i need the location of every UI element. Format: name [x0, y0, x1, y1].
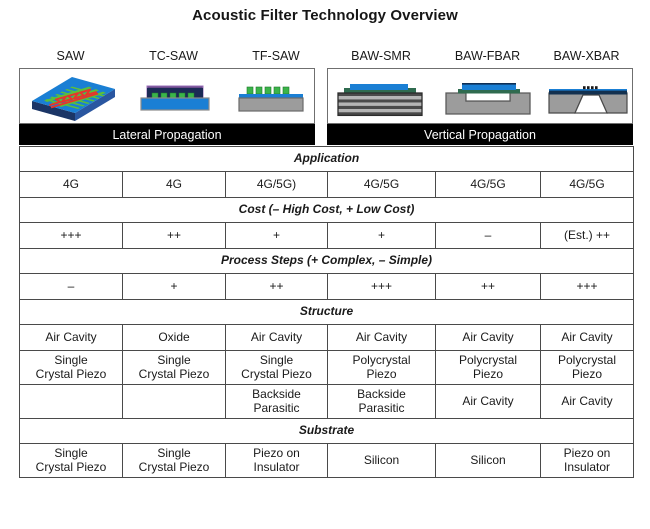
- cell-process-tf-saw: ++: [226, 274, 328, 300]
- cell-structure1-baw-xbar: Air Cavity: [541, 325, 634, 351]
- column-header-row: SAW TC-SAW TF-SAW BAW-SMR BAW-FBAR BAW-X…: [19, 48, 633, 66]
- section-header-row-substrate: Substrate: [20, 419, 634, 444]
- cell-application-saw: 4G: [20, 172, 123, 198]
- column-header-baw-fbar: BAW-FBAR: [435, 48, 540, 66]
- cell-structure2-tf-saw: SingleCrystal Piezo: [226, 351, 328, 385]
- section-heading-structure: Structure: [20, 300, 634, 325]
- cell-structure1-baw-fbar: Air Cavity: [436, 325, 541, 351]
- table-row: 4G 4G 4G/5G) 4G/5G 4G/5G 4G/5G: [20, 172, 634, 198]
- cell-structure1-baw-smr: Air Cavity: [328, 325, 436, 351]
- cell-process-tc-saw: +: [123, 274, 226, 300]
- cell-substrate-tf-saw: Piezo onInsulator: [226, 444, 328, 478]
- cell-cost-saw: +++: [20, 223, 123, 249]
- figure-cell-tf-saw: [226, 69, 315, 123]
- comparison-table: Application 4G 4G 4G/5G) 4G/5G 4G/5G 4G/…: [19, 146, 634, 478]
- table-row: BacksideParasitic BacksideParasitic Air …: [20, 385, 634, 419]
- cell-substrate-tc-saw: SingleCrystal Piezo: [123, 444, 226, 478]
- cell-structure1-tf-saw: Air Cavity: [226, 325, 328, 351]
- table-row: +++ ++ + + – (Est.) ++: [20, 223, 634, 249]
- cell-substrate-saw: SingleCrystal Piezo: [20, 444, 123, 478]
- cell-structure2-tc-saw: SingleCrystal Piezo: [123, 351, 226, 385]
- cell-application-tf-saw: 4G/5G): [226, 172, 328, 198]
- cell-application-baw-smr: 4G/5G: [328, 172, 436, 198]
- cell-application-tc-saw: 4G: [123, 172, 226, 198]
- cell-process-baw-smr: +++: [328, 274, 436, 300]
- tc-saw-cross-section-icon: [123, 69, 226, 124]
- cell-process-baw-fbar: ++: [436, 274, 541, 300]
- cell-structure3-tf-saw: BacksideParasitic: [226, 385, 328, 419]
- column-header-saw: SAW: [19, 48, 122, 66]
- section-heading-substrate: Substrate: [20, 419, 634, 444]
- page-title: Acoustic Filter Technology Overview: [0, 7, 650, 24]
- section-heading-cost: Cost (– High Cost, + Low Cost): [20, 198, 634, 223]
- cell-process-saw: –: [20, 274, 123, 300]
- baw-xbar-cross-section-icon: [541, 69, 633, 124]
- baw-fbar-cross-section-icon: [436, 69, 541, 124]
- cell-cost-baw-smr: +: [328, 223, 436, 249]
- column-header-tf-saw: TF-SAW: [225, 48, 327, 66]
- section-header-row-cost: Cost (– High Cost, + Low Cost): [20, 198, 634, 223]
- lateral-propagation-bar: Lateral Propagation: [19, 124, 315, 145]
- column-header-baw-smr: BAW-SMR: [327, 48, 435, 66]
- figure-cell-baw-xbar: [541, 69, 633, 123]
- table-row: Air Cavity Oxide Air Cavity Air Cavity A…: [20, 325, 634, 351]
- poster-root: Acoustic Filter Technology Overview SAW …: [0, 0, 650, 529]
- tf-saw-cross-section-icon: [226, 69, 315, 124]
- cell-structure2-baw-xbar: PolycrystalPiezo: [541, 351, 634, 385]
- vertical-propagation-figure-panel: [327, 68, 633, 124]
- cell-substrate-baw-smr: Silicon: [328, 444, 436, 478]
- section-heading-application: Application: [20, 147, 634, 172]
- cell-structure3-baw-xbar: Air Cavity: [541, 385, 634, 419]
- cell-structure3-baw-smr: BacksideParasitic: [328, 385, 436, 419]
- cell-cost-baw-xbar: (Est.) ++: [541, 223, 634, 249]
- cell-structure3-saw: [20, 385, 123, 419]
- lateral-propagation-figure-panel: [19, 68, 315, 124]
- cell-structure2-baw-fbar: PolycrystalPiezo: [436, 351, 541, 385]
- figure-cell-saw: [20, 69, 123, 123]
- table-row: SingleCrystal Piezo SingleCrystal Piezo …: [20, 351, 634, 385]
- cell-structure3-baw-fbar: Air Cavity: [436, 385, 541, 419]
- figure-cell-baw-smr: [328, 69, 436, 123]
- cell-structure2-saw: SingleCrystal Piezo: [20, 351, 123, 385]
- cell-structure1-saw: Air Cavity: [20, 325, 123, 351]
- cell-cost-baw-fbar: –: [436, 223, 541, 249]
- cell-structure2-baw-smr: PolycrystalPiezo: [328, 351, 436, 385]
- section-heading-process-steps: Process Steps (+ Complex, – Simple): [20, 249, 634, 274]
- section-header-row-structure: Structure: [20, 300, 634, 325]
- baw-smr-cross-section-icon: [328, 69, 436, 124]
- cell-application-baw-xbar: 4G/5G: [541, 172, 634, 198]
- table-row: – + ++ +++ ++ +++: [20, 274, 634, 300]
- figure-cell-tc-saw: [123, 69, 226, 123]
- table-row: SingleCrystal Piezo SingleCrystal Piezo …: [20, 444, 634, 478]
- column-header-baw-xbar: BAW-XBAR: [540, 48, 633, 66]
- section-header-row-application: Application: [20, 147, 634, 172]
- cell-structure3-tc-saw: [123, 385, 226, 419]
- section-header-row-process-steps: Process Steps (+ Complex, – Simple): [20, 249, 634, 274]
- cell-structure1-tc-saw: Oxide: [123, 325, 226, 351]
- cell-substrate-baw-fbar: Silicon: [436, 444, 541, 478]
- cell-process-baw-xbar: +++: [541, 274, 634, 300]
- saw-3d-die-icon: [20, 69, 123, 124]
- cell-cost-tc-saw: ++: [123, 223, 226, 249]
- cell-application-baw-fbar: 4G/5G: [436, 172, 541, 198]
- column-header-tc-saw: TC-SAW: [122, 48, 225, 66]
- cell-substrate-baw-xbar: Piezo onInsulator: [541, 444, 634, 478]
- vertical-propagation-bar: Vertical Propagation: [327, 124, 633, 145]
- figure-cell-baw-fbar: [436, 69, 541, 123]
- cell-cost-tf-saw: +: [226, 223, 328, 249]
